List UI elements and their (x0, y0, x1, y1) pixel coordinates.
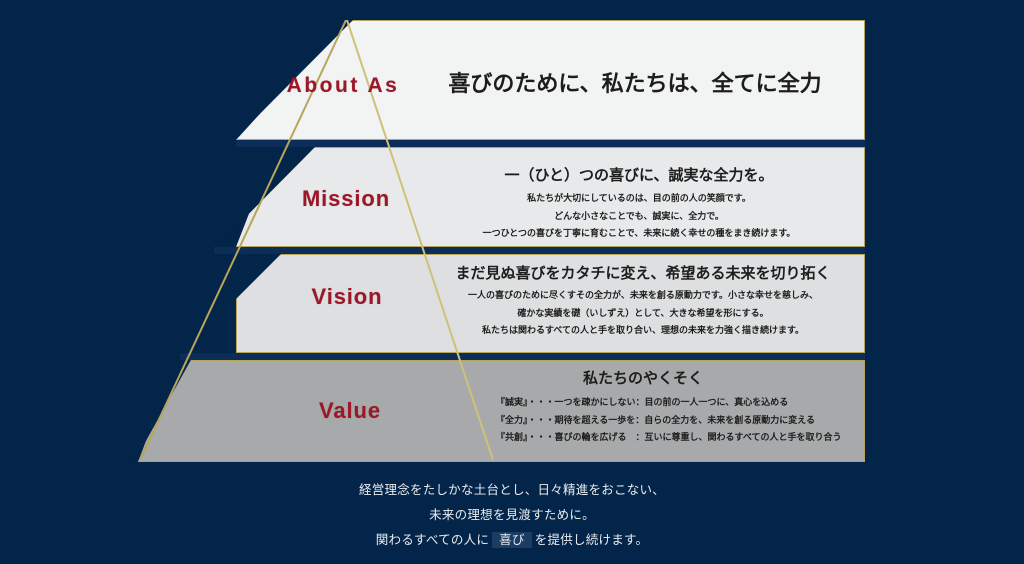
pyramid-label-about: About As (258, 74, 428, 98)
footer-line-3: 関わるすべての人に喜びを提供し続けます。 (0, 528, 1024, 553)
vision-headline: まだ見ぬ喜びをカタチに変え、希望ある未来を切り拓く (424, 262, 862, 283)
mission-vision-value-pyramid-slide: About As Mission Vision Value 喜びのために、私たち… (0, 0, 1024, 564)
pyramid-label-vision: Vision (272, 284, 422, 310)
level-separator-3 (180, 353, 865, 360)
footer-highlight-joy: 喜び (492, 532, 532, 548)
footer-line-3-post: を提供し続けます。 (535, 533, 649, 547)
mission-line-3: 一つひとつの喜びを丁寧に育むことで、未来に続く幸せの種をまき続けます。 (424, 225, 854, 243)
footer-line-2: 未来の理想を見渡すために。 (0, 503, 1024, 528)
footer-line-1: 経営理念をたしかな土台とし、日々精進をおこない、 (0, 478, 1024, 503)
pyramid-body-vision: まだ見ぬ喜びをカタチに変え、希望ある未来を切り拓く 一人の喜びのために尽くすその… (424, 262, 862, 340)
level-separator-2 (214, 247, 865, 254)
mission-headline: 一（ひと）つの喜びに、誠実な全力を。 (424, 164, 854, 185)
pyramid-body-value: 私たちのやくそく 『誠実』・・・一つを疎かにしない：目の前の一人一つに、真心を込… (424, 367, 862, 447)
mission-line-1: 私たちが大切にしているのは、目の前の人の笑顔です。 (424, 190, 854, 208)
value-line-2: 『全力』・・・期待を超える一歩を：自らの全力を、未来を創る原動力に変える (424, 412, 862, 430)
vision-line-3: 私たちは関わるすべての人と手を取り合い、理想の未来を力強く描き続けます。 (424, 322, 862, 340)
pyramid-label-value: Value (280, 398, 420, 424)
pyramid-body-about: 喜びのために、私たちは、全てに全力 (420, 66, 850, 98)
value-headline: 私たちのやくそく (424, 367, 862, 388)
vision-line-1: 一人の喜びのために尽くすその全力が、未来を創る原動力です。小さな幸せを慈しみ、 (424, 287, 862, 305)
value-line-3: 『共創』・・・喜びの輪を広げる ：互いに尊重し、関わるすべての人と手を取り合う (424, 429, 862, 447)
about-headline: 喜びのために、私たちは、全てに全力 (420, 66, 850, 98)
value-line-1: 『誠実』・・・一つを疎かにしない：目の前の一人一つに、真心を込める (424, 394, 862, 412)
footer-statement: 経営理念をたしかな土台とし、日々精進をおこない、 未来の理想を見渡すために。 関… (0, 478, 1024, 553)
footer-line-3-pre: 関わるすべての人に (376, 533, 489, 547)
vision-line-2: 確かな実績を礎（いしずえ）として、大きな希望を形にする。 (424, 305, 862, 323)
pyramid-body-mission: 一（ひと）つの喜びに、誠実な全力を。 私たちが大切にしているのは、目の前の人の笑… (424, 164, 854, 243)
pyramid-label-mission: Mission (268, 186, 424, 212)
mission-line-2: どんな小さなことでも、誠実に、全力で。 (424, 208, 854, 226)
level-separator-1 (236, 140, 865, 147)
